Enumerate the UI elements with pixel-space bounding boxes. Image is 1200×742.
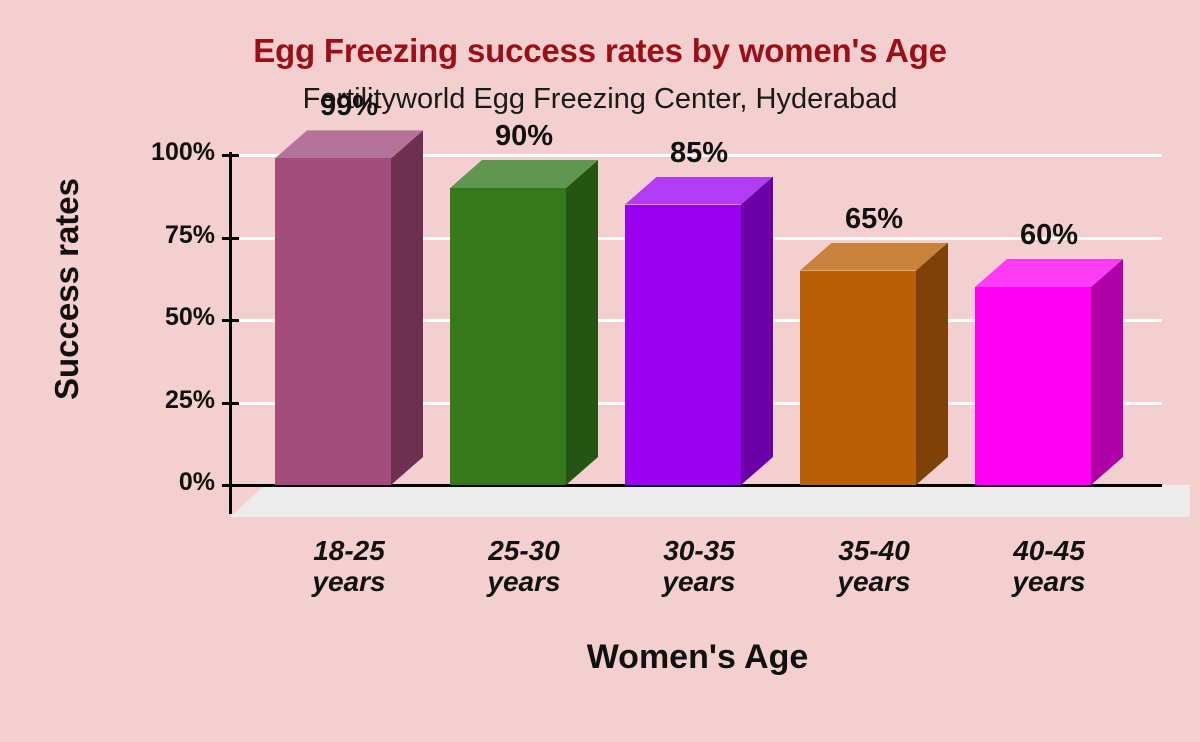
y-axis-tick-label: 100% <box>105 138 215 167</box>
bar-value-label: 90% <box>430 120 618 153</box>
category-range: 25-30 <box>432 535 616 566</box>
bar-side-face <box>1091 259 1123 485</box>
chart-subtitle: Fertilityworld Egg Freezing Center, Hyde… <box>0 83 1200 116</box>
bar-front-face <box>450 188 566 485</box>
bar-column[interactable] <box>800 243 916 486</box>
chart-floor-surface <box>230 485 1190 517</box>
bar-value-label: 60% <box>955 219 1143 252</box>
bar-value-label: 65% <box>780 203 968 236</box>
chart-title: Egg Freezing success rates by women's Ag… <box>0 32 1200 70</box>
category-range: 35-40 <box>782 535 966 566</box>
y-axis-title: Success rates <box>48 159 86 419</box>
category-range: 30-35 <box>607 535 791 566</box>
bar-column[interactable] <box>975 259 1091 485</box>
y-axis-tick-label: 0% <box>105 468 215 497</box>
bar-chart: Egg Freezing success rates by women's Ag… <box>0 0 1200 742</box>
plot-area <box>230 155 1165 485</box>
bar-front-face <box>275 158 391 485</box>
bar-side-face <box>566 160 598 485</box>
category-range: 40-45 <box>957 535 1141 566</box>
bar-column[interactable] <box>450 160 566 485</box>
bar-column[interactable] <box>275 130 391 485</box>
category-unit: years <box>257 566 441 597</box>
category-unit: years <box>957 566 1141 597</box>
x-axis-title: Women's Age <box>230 638 1165 677</box>
y-axis-tick-label: 75% <box>105 221 215 250</box>
bar-column[interactable] <box>625 177 741 486</box>
bar-side-face <box>916 243 948 486</box>
category-unit: years <box>782 566 966 597</box>
category-range: 18-25 <box>257 535 441 566</box>
category-unit: years <box>432 566 616 597</box>
bar-value-label: 85% <box>605 137 793 170</box>
y-axis-tick-label: 25% <box>105 386 215 415</box>
x-axis-category-label: 35-40years <box>782 535 966 598</box>
x-axis-category-label: 25-30years <box>432 535 616 598</box>
chart-floor <box>230 485 1190 517</box>
y-axis-tick-label: 50% <box>105 303 215 332</box>
bar-side-face <box>741 177 773 486</box>
bar-front-face <box>625 205 741 486</box>
x-axis-category-label: 40-45years <box>957 535 1141 598</box>
bar-front-face <box>800 271 916 486</box>
bar-side-face <box>391 130 423 485</box>
bar-value-label: 99% <box>255 90 443 123</box>
x-axis-category-label: 18-25years <box>257 535 441 598</box>
bar-front-face <box>975 287 1091 485</box>
x-axis-category-label: 30-35years <box>607 535 791 598</box>
category-unit: years <box>607 566 791 597</box>
